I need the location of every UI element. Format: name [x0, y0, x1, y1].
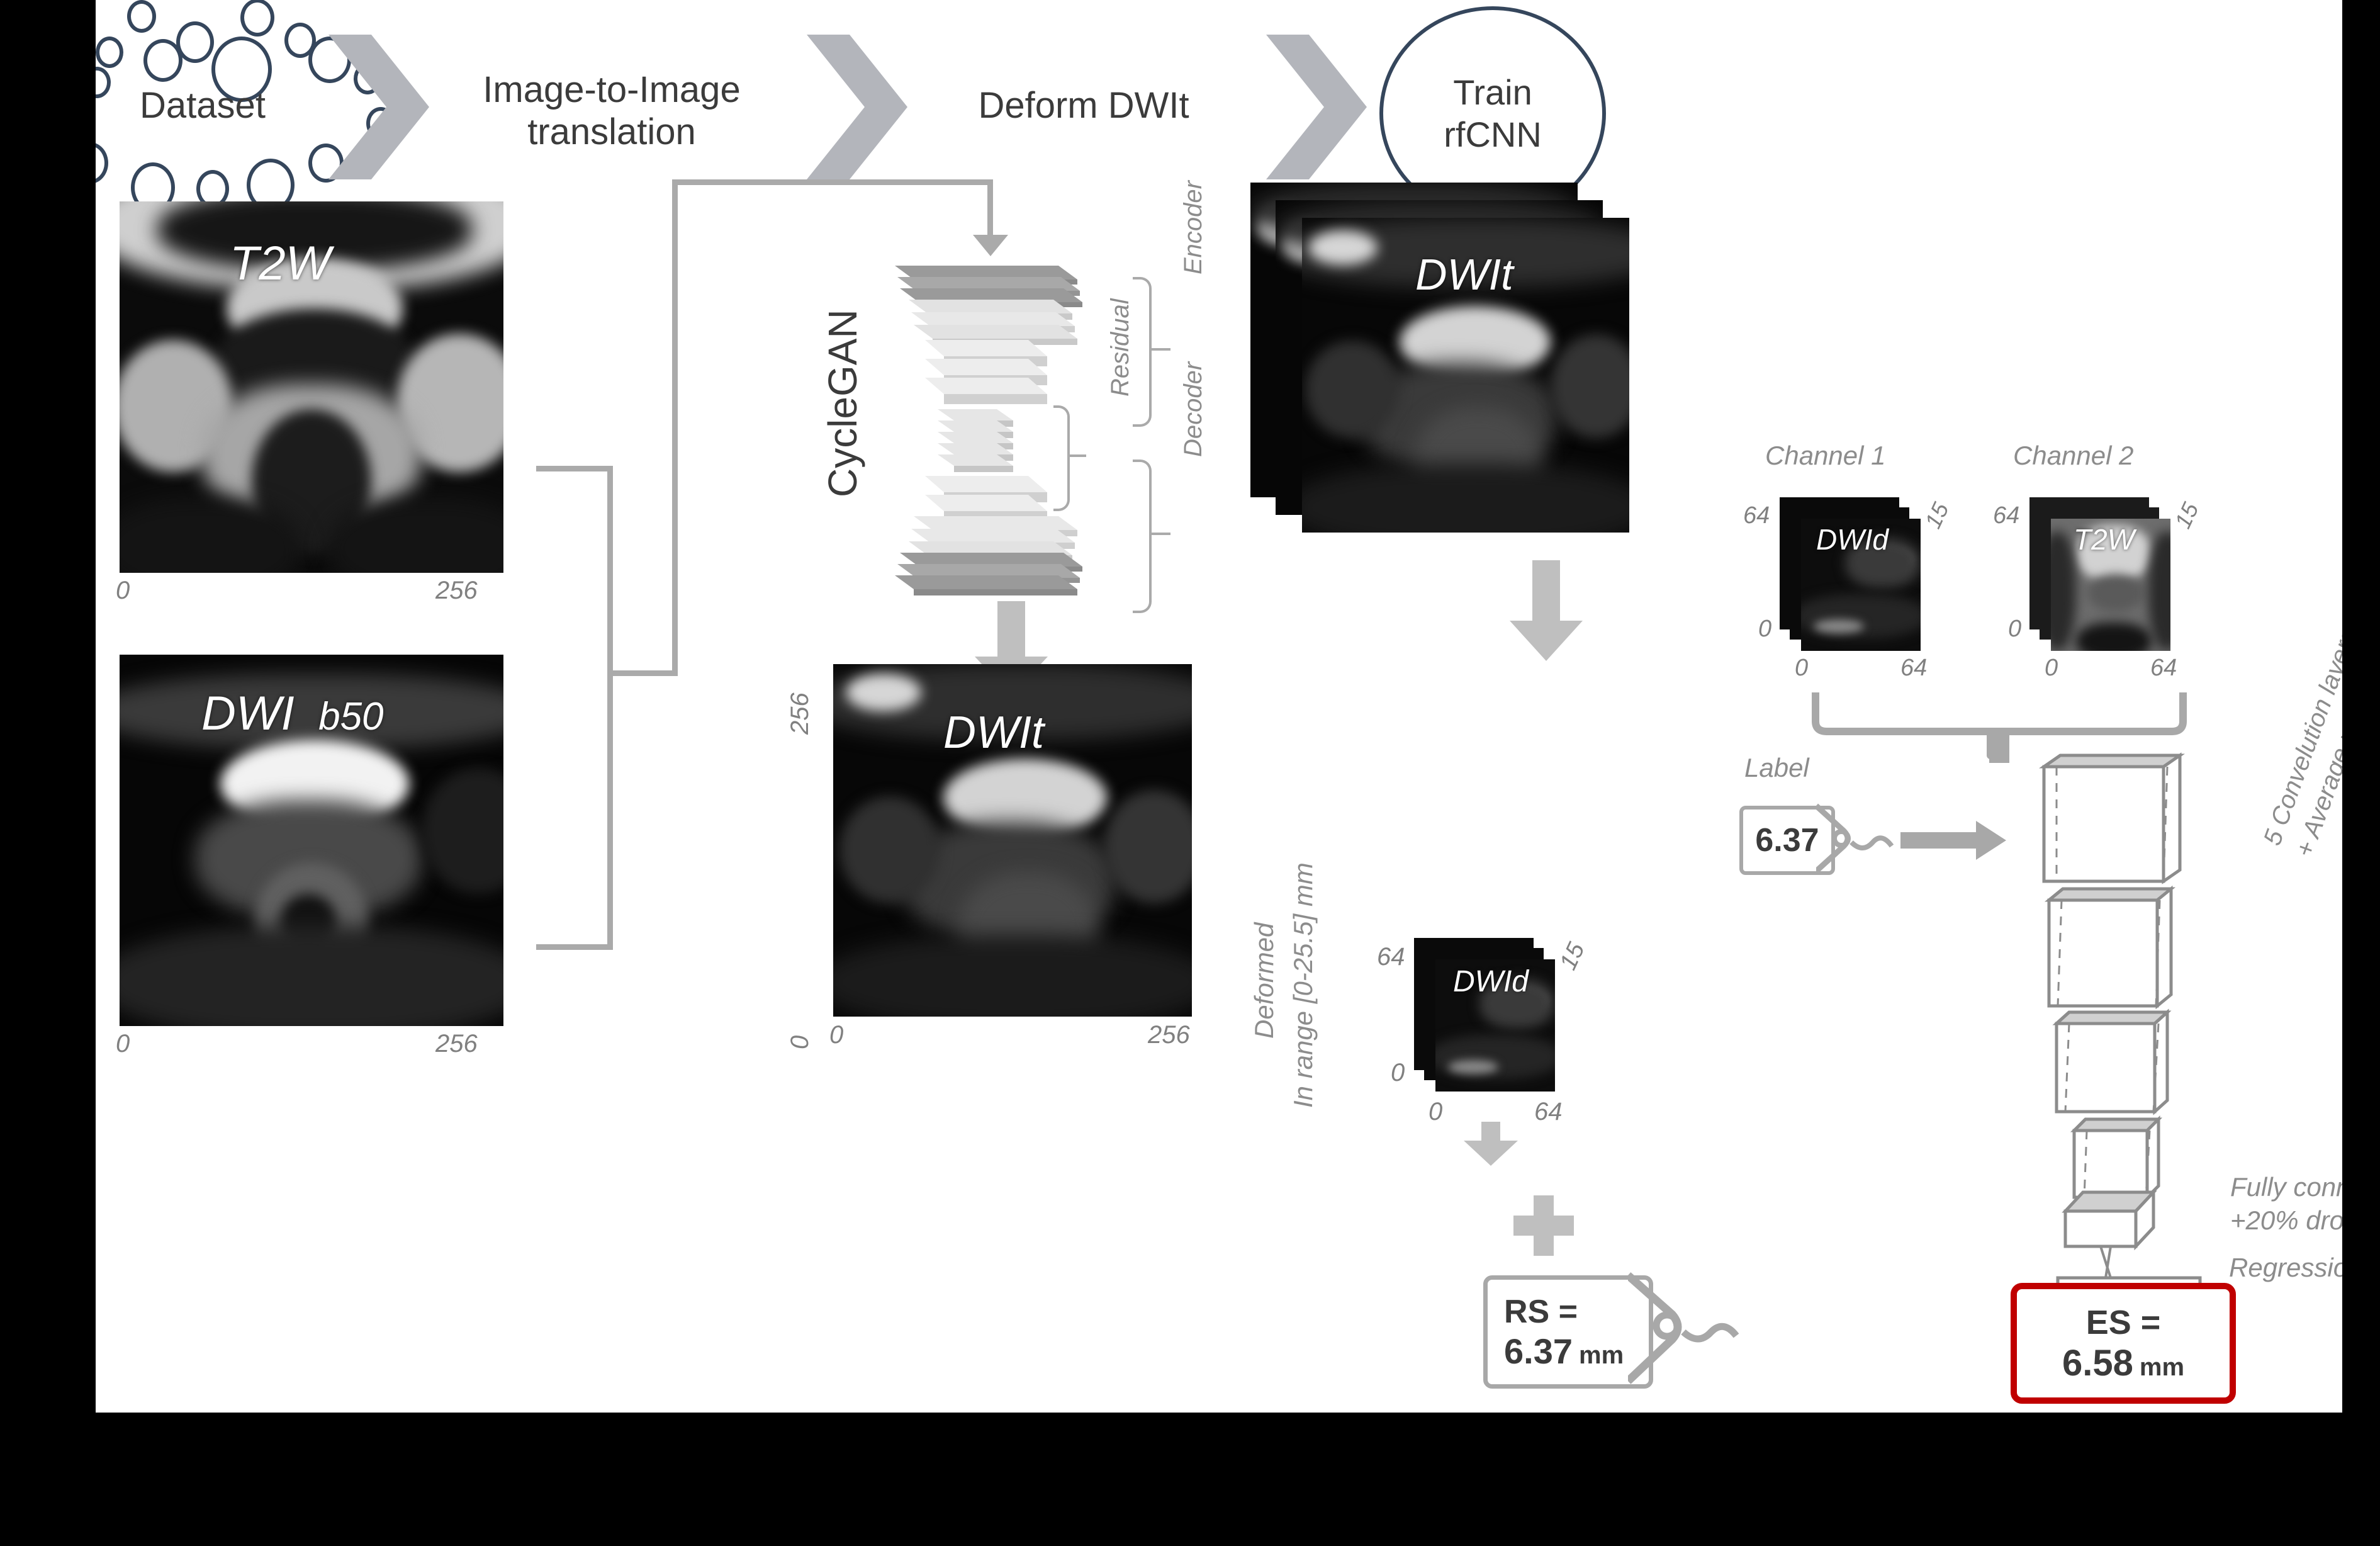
- es-box-line1: ES =: [2086, 1303, 2161, 1342]
- channel-1-yaxis-max: 64: [1743, 502, 1770, 529]
- channel-1-overlay-tag: DWId: [1816, 522, 1889, 556]
- cyclegan-title: CycleGAN: [819, 309, 866, 497]
- dwi-yaxis-min: 0: [96, 1044, 101, 1058]
- input-brace-bottom: [536, 944, 613, 950]
- dwi-b50-image-panel: DWI b50: [120, 655, 503, 1026]
- cyclegan-feed-vertical: [672, 179, 678, 676]
- channel-2-xaxis-min: 0: [2045, 655, 2058, 682]
- chevron-2-icon: [807, 35, 907, 179]
- dwi-yaxis-max: 256: [96, 684, 101, 726]
- input-brace-vertical: [607, 466, 613, 950]
- rs-price-tag: RS = 6.37 mm: [1483, 1275, 1754, 1395]
- chevron-1-icon: [328, 35, 429, 179]
- rs-tag-line1: RS =: [1504, 1293, 1649, 1331]
- deform-note-line2: In range [0-25.5] mm: [1288, 862, 1318, 1108]
- dwid-deformed-front: DWId: [1435, 959, 1555, 1092]
- dwit-xaxis-max: 256: [1148, 1021, 1190, 1049]
- encoder-bracket-tick: [1149, 348, 1170, 351]
- rs-tag-unit: mm: [1579, 1341, 1624, 1370]
- cnn-conv-stack: [2034, 749, 2286, 1240]
- stage-label-train-line1: Train: [1444, 71, 1542, 113]
- dwi-overlay-tag: DWI b50: [201, 686, 384, 741]
- dwid-xaxis-min: 0: [1429, 1098, 1442, 1126]
- dwit-yaxis-max: 256: [786, 692, 814, 735]
- t2w-xaxis-min: 0: [116, 577, 130, 605]
- dwi-xaxis-max: 256: [435, 1030, 478, 1058]
- stage-label-dataset: Dataset: [108, 85, 297, 127]
- dwit-overlay-tag: DWIt: [943, 707, 1044, 759]
- dwid-yaxis-min: 0: [1391, 1059, 1405, 1087]
- stage-label-deform: Deform DWIt: [920, 85, 1247, 127]
- dwit-output-panel: DWIt: [833, 664, 1192, 1017]
- input-brace-top: [536, 466, 613, 471]
- label-to-cnn-arrow-icon: [1900, 818, 2007, 862]
- t2w-image-panel: T2W: [120, 201, 503, 573]
- figure-root: Dataset Image-to-Image translation Defor…: [0, 0, 2380, 1546]
- cyclegan-feed-horizontal: [672, 179, 993, 185]
- stage-label-train-line2: rfCNN: [1444, 113, 1542, 155]
- residual-bracket: [1053, 405, 1070, 511]
- channel-1-front: DWId: [1801, 519, 1921, 651]
- fc-note: Fully connected +20% dropout: [2230, 1171, 2342, 1237]
- channel-1-xaxis-max: 64: [1900, 655, 1927, 682]
- t2w-overlay-tag: T2W: [230, 236, 330, 291]
- deform-note-line1: Deformed: [1249, 923, 1279, 1039]
- cyclegan-feed-drop: [987, 179, 993, 237]
- dwit-stack-overlay-tag: DWIt: [1415, 249, 1513, 300]
- stage-label-i2i-line2: translation: [448, 111, 775, 154]
- encoder-bracket: [1133, 277, 1152, 427]
- dwit-xaxis-min: 0: [829, 1021, 843, 1049]
- channel-2-title: Channel 2: [2013, 441, 2133, 471]
- input-brace-stem: [607, 670, 678, 676]
- t2w-xaxis-max: 256: [435, 577, 478, 605]
- sum-plus-icon-bar: [1513, 1216, 1574, 1236]
- dwid-yaxis-max: 64: [1377, 943, 1405, 971]
- residual-bracket-label: Residual: [1106, 298, 1135, 397]
- dwi-overlay-tag-sub: b50: [318, 695, 383, 738]
- deform-arrow-icon: [1508, 560, 1584, 661]
- channel-2-overlay-tag: T2W: [2074, 522, 2135, 556]
- channel-2-yaxis-min: 0: [2008, 616, 2021, 643]
- regression-note: Regression layer: [2229, 1253, 2342, 1283]
- channel-1-yaxis-min: 0: [1758, 616, 1771, 643]
- conv-note: 5 Convelution layers + Average pool + Re…: [2255, 596, 2342, 861]
- es-box-value: 6.58: [2062, 1342, 2133, 1384]
- dwid-overlay-tag: DWId: [1453, 964, 1529, 999]
- figure-canvas: Dataset Image-to-Image translation Defor…: [96, 0, 2342, 1413]
- decoder-bracket-tick: [1149, 533, 1170, 535]
- chevron-3-icon: [1266, 35, 1367, 179]
- channel-2-front: T2W: [2051, 519, 2170, 651]
- dwit-stack-front: DWIt: [1302, 218, 1629, 533]
- fc-note-line1: Fully connected: [2230, 1171, 2342, 1204]
- fc-note-line2: +20% dropout: [2230, 1204, 2342, 1238]
- stage-label-i2i: Image-to-Image translation: [448, 69, 775, 153]
- residual-bracket-tick: [1067, 454, 1086, 457]
- channel-1-title: Channel 1: [1765, 441, 1885, 471]
- t2w-yaxis-min: 0: [96, 591, 101, 605]
- dwit-stack: DWIt: [1250, 183, 1653, 541]
- stage-label-i2i-line1: Image-to-Image: [448, 69, 775, 111]
- es-result-box: ES = 6.58 mm: [2011, 1283, 2236, 1404]
- t2w-yaxis-max: 256: [96, 230, 101, 273]
- cyclegan-layer-stack: [889, 252, 1128, 604]
- dwid-xaxis-max: 64: [1534, 1098, 1563, 1126]
- decoder-bracket: [1133, 460, 1152, 613]
- dwi-overlay-tag-main: DWI: [201, 687, 295, 740]
- label-tag-value: 6.37: [1755, 821, 1819, 859]
- label-price-tag: 6.37: [1739, 806, 1897, 881]
- decoder-bracket-label: Decoder: [1179, 362, 1208, 457]
- channel-1-xaxis-min: 0: [1795, 655, 1808, 682]
- channel-2-xaxis-max: 64: [2150, 655, 2177, 682]
- es-box-unit: mm: [2140, 1353, 2184, 1382]
- dwi-xaxis-min: 0: [116, 1030, 130, 1058]
- label-caption: Label: [1744, 753, 1809, 783]
- dwit-yaxis-min: 0: [786, 1035, 814, 1049]
- encoder-bracket-label: Encoder: [1179, 181, 1208, 274]
- channel-2-yaxis-max: 64: [1993, 502, 2019, 529]
- rs-tag-value: 6.37: [1504, 1331, 1573, 1372]
- dwid-to-sum-arrow-icon: [1462, 1122, 1519, 1166]
